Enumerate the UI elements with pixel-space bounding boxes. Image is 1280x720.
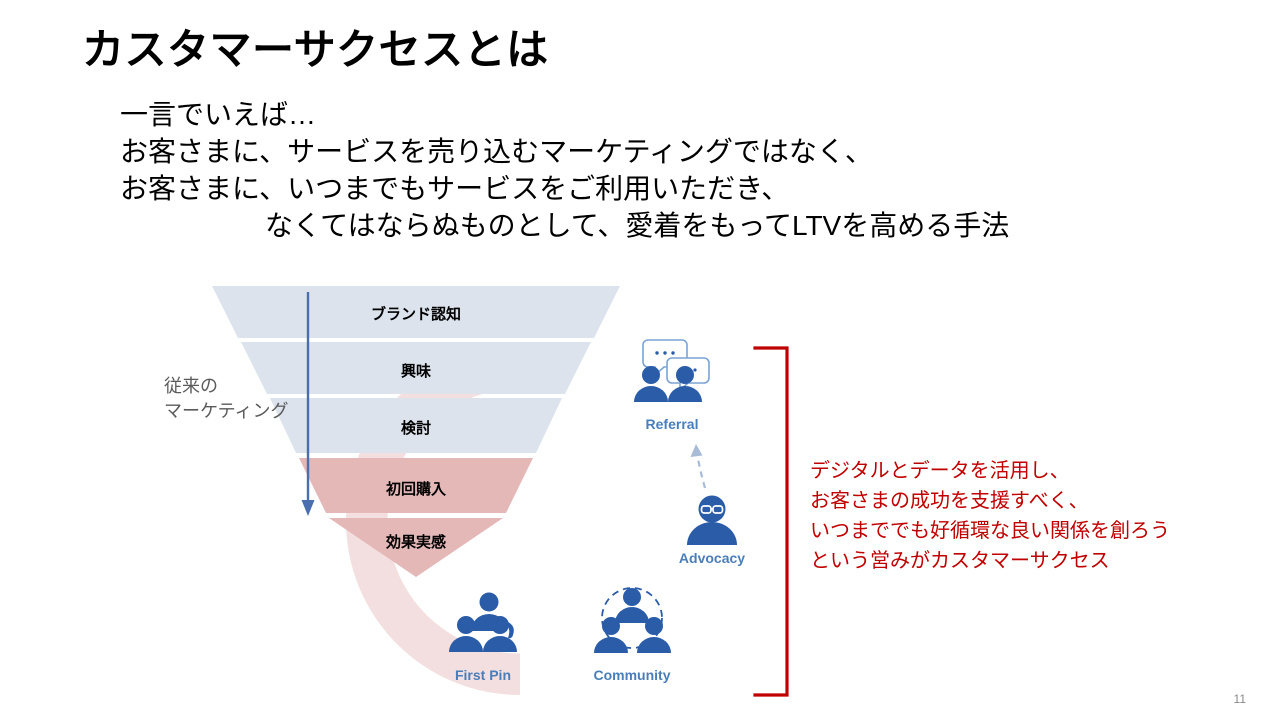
- legacy-marketing-caption: 従来の マーケティング: [164, 374, 289, 424]
- cycle-node-label-community: Community: [594, 667, 671, 683]
- three-people-group-icon: [449, 593, 517, 653]
- red-note-line-3: いつまででも好循環な良い関係を創ろう: [810, 516, 1170, 546]
- red-note-line-2: お客さまの成功を支援すべく、: [810, 486, 1170, 516]
- cycle-node-label-advocacy: Advocacy: [679, 550, 745, 566]
- legacy-caption-line-2: マーケティング: [164, 399, 289, 424]
- red-note-line-1: デジタルとデータを活用し、: [810, 456, 1170, 486]
- slide-canvas: カスタマーサクセスとは 一言でいえば… お客さまに、サービスを売り込むマーケティ…: [0, 0, 1280, 720]
- page-number: 11: [1234, 692, 1246, 706]
- funnel-stage-label-2: 興味: [401, 360, 431, 381]
- scope-bracket-icon: [755, 348, 787, 695]
- diagram-vector-layer: [0, 0, 1280, 720]
- red-note-line-4: という営みがカスタマーサクセス: [810, 546, 1170, 576]
- funnel-stage-label-4: 初回購入: [386, 478, 446, 499]
- person-with-glasses-icon: [687, 496, 737, 546]
- red-annotation-note: デジタルとデータを活用し、 お客さまの成功を支援すべく、 いつまででも好循環な良…: [810, 456, 1170, 576]
- funnel-stage-label-5: 効果実感: [386, 531, 446, 552]
- cycle-node-label-first-pin: First Pin: [455, 667, 511, 683]
- three-people-dashed-circle-icon: [594, 588, 671, 653]
- legacy-caption-line-1: 従来の: [164, 374, 289, 399]
- funnel-stage-label-3: 検討: [401, 417, 431, 438]
- customer-success-diagram: ブランド認知 興味 検討 初回購入 効果実感 従来の マーケティング Refer…: [0, 0, 1280, 720]
- advocacy-to-referral-arrow-icon: [691, 444, 706, 488]
- funnel-stage-label-1: ブランド認知: [371, 303, 461, 324]
- two-people-speech-bubbles-icon: [634, 340, 709, 402]
- cycle-node-label-referral: Referral: [646, 416, 699, 432]
